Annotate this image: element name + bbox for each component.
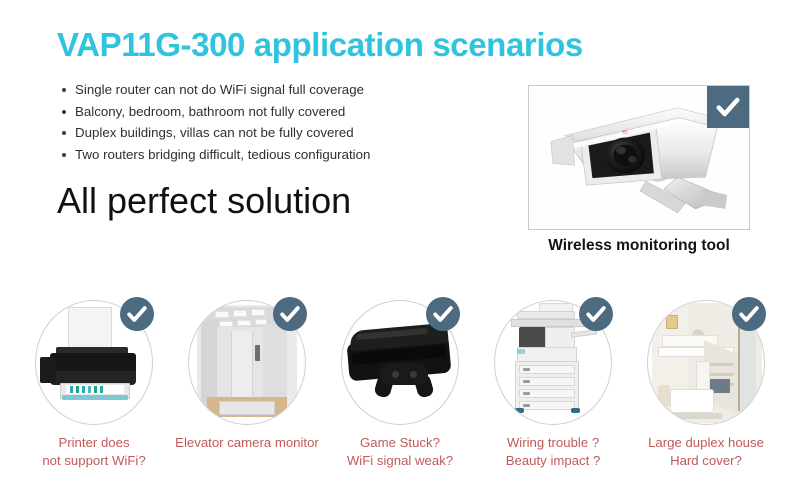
scenario-caption: Elevator camera monitor: [175, 434, 319, 452]
check-badge: [579, 297, 613, 331]
check-badge: [707, 86, 749, 128]
camera-image-frame: [528, 85, 750, 230]
check-icon: [585, 303, 607, 325]
scenario-circle: [647, 300, 765, 425]
scenario-card-duplex-house[interactable]: Large duplex house Hard cover?: [634, 300, 779, 470]
scenario-caption: Game Stuck? WiFi signal weak?: [347, 434, 453, 470]
scenario-caption-line1: Game Stuck?: [347, 434, 453, 452]
check-badge: [273, 297, 307, 331]
scenario-row: Printer does not support WiFi?: [0, 300, 800, 470]
scenario-card-elevator[interactable]: Elevator camera monitor: [175, 300, 320, 470]
feature-bullet-list: Single router can not do WiFi signal ful…: [62, 79, 370, 165]
scenario-caption-line2: not support WiFi?: [42, 452, 145, 470]
scenario-caption-line2: Hard cover?: [648, 452, 764, 470]
scenario-caption-line1: Large duplex house: [648, 434, 764, 452]
scenario-caption: Printer does not support WiFi?: [42, 434, 145, 470]
scenario-caption-line1: Printer does: [42, 434, 145, 452]
list-item: Duplex buildings, villas can not be full…: [62, 122, 370, 144]
list-item: Balcony, bedroom, bathroom not fully cov…: [62, 101, 370, 123]
scenario-circle: [188, 300, 306, 425]
list-item: Two routers bridging difficult, tedious …: [62, 144, 370, 166]
check-icon: [432, 303, 454, 325]
scenario-caption-line2: Beauty impact ?: [506, 452, 601, 470]
check-badge: [426, 297, 460, 331]
check-badge: [120, 297, 154, 331]
scenario-caption: Large duplex house Hard cover?: [648, 434, 764, 470]
check-badge: [732, 297, 766, 331]
scenario-caption-line1: Wiring trouble ?: [506, 434, 601, 452]
list-item: Single router can not do WiFi signal ful…: [62, 79, 370, 101]
subtitle: All perfect solution: [57, 180, 351, 222]
scenario-circle: [341, 300, 459, 425]
scenario-circle: [494, 300, 612, 425]
scenario-card-game-console[interactable]: Game Stuck? WiFi signal weak?: [328, 300, 473, 470]
scenario-caption: Wiring trouble ? Beauty impact ?: [506, 434, 601, 470]
page-title: VAP11G-300 application scenarios: [57, 26, 583, 64]
check-icon: [715, 94, 741, 120]
scenario-caption-line1: Elevator camera monitor: [175, 434, 319, 452]
scenario-card-printer[interactable]: Printer does not support WiFi?: [22, 300, 167, 470]
slide-root: VAP11G-300 application scenarios Single …: [0, 0, 800, 498]
check-icon: [126, 303, 148, 325]
wireless-monitoring-panel: Wireless monitoring tool: [528, 85, 750, 230]
scenario-circle: [35, 300, 153, 425]
camera-panel-caption: Wireless monitoring tool: [528, 237, 750, 255]
check-icon: [738, 303, 760, 325]
scenario-card-copier[interactable]: Wiring trouble ? Beauty impact ?: [481, 300, 626, 470]
scenario-caption-line2: WiFi signal weak?: [347, 452, 453, 470]
check-icon: [279, 303, 301, 325]
